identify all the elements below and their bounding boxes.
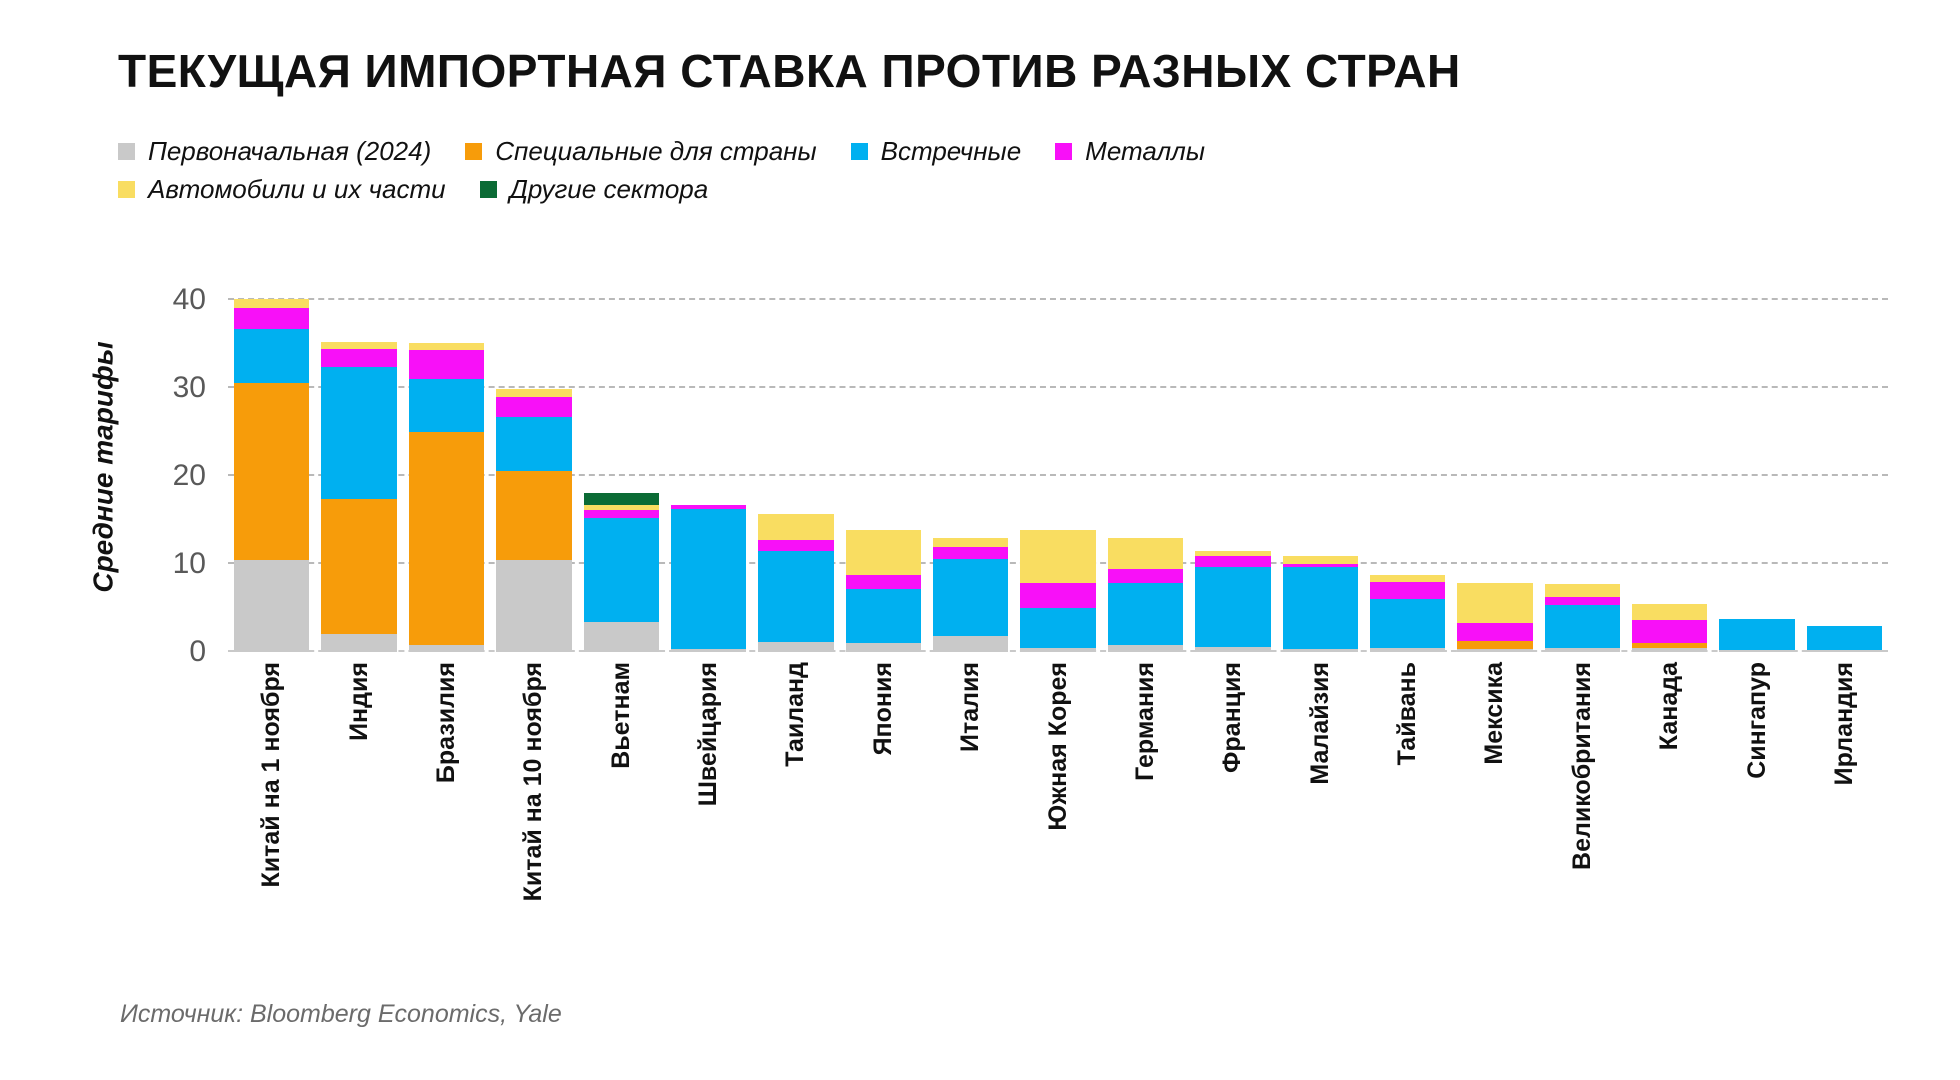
bar-segment-country_specific[interactable] [321, 499, 396, 635]
bar-segment-autos[interactable] [234, 299, 309, 308]
x-axis-label-cell: Индия [321, 662, 396, 962]
legend-item-autos[interactable]: Автомобили и их части [118, 174, 446, 205]
bar-segment-autos[interactable] [1545, 584, 1620, 597]
bar-segment-reciprocal[interactable] [321, 367, 396, 499]
legend-swatch-icon [851, 143, 868, 160]
bar-column[interactable] [1719, 282, 1794, 652]
x-axis-label-cell: Китай на 1 ноября [234, 662, 309, 962]
bar-segment-reciprocal[interactable] [758, 551, 833, 643]
bar-segment-original[interactable] [1370, 648, 1445, 652]
bar-segment-reciprocal[interactable] [1108, 583, 1183, 645]
bar-column[interactable] [409, 282, 484, 652]
bar-segment-original[interactable] [1807, 650, 1882, 652]
bar-segment-autos[interactable] [1370, 575, 1445, 582]
bar-segment-autos[interactable] [933, 538, 1008, 547]
x-axis-label: Малайзия [1308, 662, 1333, 785]
bar-stack [846, 530, 921, 652]
x-axis-label-cell: Ирландия [1807, 662, 1882, 962]
bar-column[interactable] [321, 282, 396, 652]
x-axis-label: Швейцария [696, 662, 721, 806]
x-axis-label: Индия [347, 662, 372, 741]
bar-stack [671, 505, 746, 652]
bar-column[interactable] [1195, 282, 1270, 652]
legend-item-country_specific[interactable]: Специальные для страны [465, 136, 816, 167]
x-axis-label-cell: Италия [933, 662, 1008, 962]
x-axis-label-cell: Таиланд [758, 662, 833, 962]
bar-column[interactable] [584, 282, 659, 652]
x-axis-label: Южная Корея [1046, 662, 1071, 831]
bar-segment-country_specific[interactable] [1457, 641, 1532, 650]
legend-swatch-icon [480, 181, 497, 198]
bar-segment-reciprocal[interactable] [1283, 567, 1358, 650]
x-axis-label: Тайвань [1395, 662, 1420, 765]
bar-segment-autos[interactable] [409, 343, 484, 350]
bar-segment-metals[interactable] [758, 540, 833, 551]
bar-segment-metals[interactable] [846, 575, 921, 589]
x-axis-label: Италия [958, 662, 983, 752]
bar-segment-original[interactable] [1195, 647, 1270, 652]
bar-segment-autos[interactable] [1108, 538, 1183, 570]
bar-segment-reciprocal[interactable] [1545, 605, 1620, 647]
bar-column[interactable] [846, 282, 921, 652]
bar-segment-metals[interactable] [496, 397, 571, 416]
y-axis-tick-label: 20 [173, 459, 206, 493]
bar-stack [1195, 551, 1270, 652]
bar-segment-autos[interactable] [1457, 583, 1532, 623]
bar-stack [1370, 575, 1445, 653]
bar-stack [584, 493, 659, 652]
bar-segment-reciprocal[interactable] [409, 379, 484, 432]
y-axis-tick-label: 30 [173, 371, 206, 405]
legend-swatch-icon [118, 143, 135, 160]
bar-column[interactable] [1370, 282, 1445, 652]
chart-page: Текущая импортная ставка против разных с… [0, 0, 1960, 1080]
bar-stack [1108, 538, 1183, 653]
legend-row: Первоначальная (2024)Специальные для стр… [118, 132, 1518, 170]
bar-segment-reciprocal[interactable] [1020, 608, 1095, 648]
bar-segment-reciprocal[interactable] [1719, 619, 1794, 651]
bar-segment-other_sectors[interactable] [584, 493, 659, 505]
bar-stack [1457, 583, 1532, 652]
bar-segment-autos[interactable] [321, 342, 396, 349]
source-note: Источник: Bloomberg Economics, Yale [120, 1000, 562, 1029]
bar-column[interactable] [1020, 282, 1095, 652]
bar-column[interactable] [671, 282, 746, 652]
legend-item-label: Автомобили и их части [148, 174, 446, 205]
bar-stack [1283, 556, 1358, 652]
bar-segment-original[interactable] [321, 634, 396, 652]
bar-segment-reciprocal[interactable] [933, 559, 1008, 637]
bar-segment-reciprocal[interactable] [584, 518, 659, 622]
bar-column[interactable] [758, 282, 833, 652]
x-axis-label-cell: Швейцария [671, 662, 746, 962]
x-axis-label: Канада [1657, 662, 1682, 750]
bar-column[interactable] [1545, 282, 1620, 652]
legend-item-label: Встречные [881, 136, 1022, 167]
legend-item-metals[interactable]: Металлы [1055, 136, 1205, 167]
bar-segment-original[interactable] [234, 560, 309, 653]
x-axis-label-cell: Малайзия [1283, 662, 1358, 962]
bar-segment-metals[interactable] [1632, 620, 1707, 643]
bar-column[interactable] [1283, 282, 1358, 652]
x-axis-label-cell: Тайвань [1370, 662, 1445, 962]
bar-segment-autos[interactable] [1283, 556, 1358, 564]
bar-segment-original[interactable] [1020, 648, 1095, 652]
legend-item-label: Специальные для страны [495, 136, 816, 167]
bar-segment-original[interactable] [1457, 649, 1532, 652]
bar-segment-metals[interactable] [1195, 556, 1270, 567]
bar-segment-original[interactable] [1632, 648, 1707, 652]
bar-segment-original[interactable] [496, 560, 571, 653]
bar-segment-reciprocal[interactable] [1370, 599, 1445, 648]
bar-segment-metals[interactable] [1370, 582, 1445, 600]
bar-stack [758, 514, 833, 652]
legend-swatch-icon [1055, 143, 1072, 160]
x-axis-label-cell: Бразилия [409, 662, 484, 962]
bar-column[interactable] [1632, 282, 1707, 652]
x-axis-label: Вьетнам [609, 662, 634, 769]
chart-legend: Первоначальная (2024)Специальные для стр… [118, 132, 1518, 208]
x-axis-label: Китай на 1 ноября [259, 662, 284, 888]
bar-segment-original[interactable] [409, 645, 484, 652]
x-axis-label: Китай на 10 ноября [521, 662, 546, 901]
x-axis-label: Таиланд [783, 662, 808, 767]
legend-item-original[interactable]: Первоначальная (2024) [118, 136, 431, 167]
x-axis-label: Япония [871, 662, 896, 755]
x-axis-label-cell: Япония [846, 662, 921, 962]
bar-segment-autos[interactable] [496, 389, 571, 398]
bar-segment-reciprocal[interactable] [234, 329, 309, 384]
bar-column[interactable] [1457, 282, 1532, 652]
x-axis-label-cell: Франция [1195, 662, 1270, 962]
bar-stack [1807, 626, 1882, 652]
x-axis-label-cell: Великобритания [1545, 662, 1620, 962]
bar-segment-reciprocal[interactable] [1807, 626, 1882, 651]
bar-segment-autos[interactable] [846, 530, 921, 575]
bar-segment-autos[interactable] [758, 514, 833, 540]
bar-stack [1020, 530, 1095, 652]
bar-segment-metals[interactable] [321, 349, 396, 367]
bar-segment-reciprocal[interactable] [1195, 567, 1270, 646]
bar-segment-metals[interactable] [1457, 623, 1532, 641]
y-axis-title: Средние тарифы [84, 282, 124, 652]
bar-segment-original[interactable] [846, 643, 921, 652]
bar-segment-metals[interactable] [409, 350, 484, 379]
x-axis-label: Германия [1133, 662, 1158, 781]
x-axis-label-cell: Канада [1632, 662, 1707, 962]
bar-column[interactable] [1108, 282, 1183, 652]
bar-stack [1545, 584, 1620, 652]
bar-segment-original[interactable] [758, 642, 833, 652]
bar-segment-reciprocal[interactable] [846, 589, 921, 643]
bar-column[interactable] [933, 282, 1008, 652]
x-axis-label-cell: Вьетнам [584, 662, 659, 962]
y-axis-tick-label: 0 [189, 635, 206, 669]
x-axis-label-cell: Сингапур [1719, 662, 1794, 962]
bar-segment-autos[interactable] [1020, 530, 1095, 583]
x-axis-label: Франция [1220, 662, 1245, 773]
x-axis-label: Ирландия [1832, 662, 1857, 785]
bar-segment-autos[interactable] [1632, 604, 1707, 621]
x-axis-label-cell: Германия [1108, 662, 1183, 962]
x-axis-label-cell: Южная Корея [1020, 662, 1095, 962]
bar-stack [1719, 619, 1794, 652]
x-axis-label: Мексика [1482, 662, 1507, 765]
x-axis-label: Сингапур [1745, 662, 1770, 779]
y-axis: 010203040 [140, 282, 218, 652]
bar-segment-metals[interactable] [234, 308, 309, 329]
bar-segment-metals[interactable] [584, 510, 659, 518]
plot-area [228, 282, 1888, 652]
bar-segment-original[interactable] [671, 649, 746, 652]
bar-column[interactable] [1807, 282, 1882, 652]
bar-segment-metals[interactable] [1020, 583, 1095, 608]
bar-stack [1632, 604, 1707, 652]
bar-stack [496, 389, 571, 652]
bar-segment-original[interactable] [1283, 649, 1358, 652]
x-axis-label: Бразилия [434, 662, 459, 783]
y-axis-title-text: Средние тарифы [88, 341, 120, 592]
y-axis-tick-label: 40 [173, 283, 206, 317]
legend-row: Автомобили и их частиДругие сектора [118, 170, 1518, 208]
bar-column[interactable] [234, 282, 309, 652]
bar-segment-metals[interactable] [933, 547, 1008, 558]
bar-stack [234, 299, 309, 652]
bar-stack [321, 342, 396, 652]
bar-segment-country_specific[interactable] [409, 432, 484, 645]
bar-segment-country_specific[interactable] [496, 471, 571, 559]
bar-segment-original[interactable] [584, 622, 659, 652]
bar-segment-original[interactable] [1545, 648, 1620, 652]
y-axis-tick-label: 10 [173, 547, 206, 581]
bar-segment-original[interactable] [933, 636, 1008, 652]
bar-segment-original[interactable] [1108, 645, 1183, 652]
bar-stack [409, 343, 484, 652]
legend-item-label: Первоначальная (2024) [148, 136, 431, 167]
bar-segment-metals[interactable] [1108, 569, 1183, 583]
bar-series-container [228, 282, 1888, 652]
bar-stack [933, 538, 1008, 652]
bar-segment-original[interactable] [1719, 650, 1794, 652]
legend-item-reciprocal[interactable]: Встречные [851, 136, 1022, 167]
x-axis-label-cell: Китай на 10 ноября [496, 662, 571, 962]
bar-segment-metals[interactable] [1545, 597, 1620, 605]
page-title: Текущая импортная ставка против разных с… [118, 44, 1461, 98]
x-axis-label: Великобритания [1570, 662, 1595, 870]
legend-swatch-icon [465, 143, 482, 160]
x-axis-labels: Китай на 1 ноябряИндияБразилияКитай на 1… [228, 662, 1888, 962]
x-axis-label-cell: Мексика [1457, 662, 1532, 962]
legend-item-label: Металлы [1085, 136, 1205, 167]
legend-item-other_sectors[interactable]: Другие сектора [480, 174, 709, 205]
legend-item-label: Другие сектора [510, 174, 709, 205]
bar-segment-reciprocal[interactable] [496, 417, 571, 472]
bar-column[interactable] [496, 282, 571, 652]
bar-segment-reciprocal[interactable] [671, 509, 746, 649]
legend-swatch-icon [118, 181, 135, 198]
bar-segment-country_specific[interactable] [234, 383, 309, 559]
